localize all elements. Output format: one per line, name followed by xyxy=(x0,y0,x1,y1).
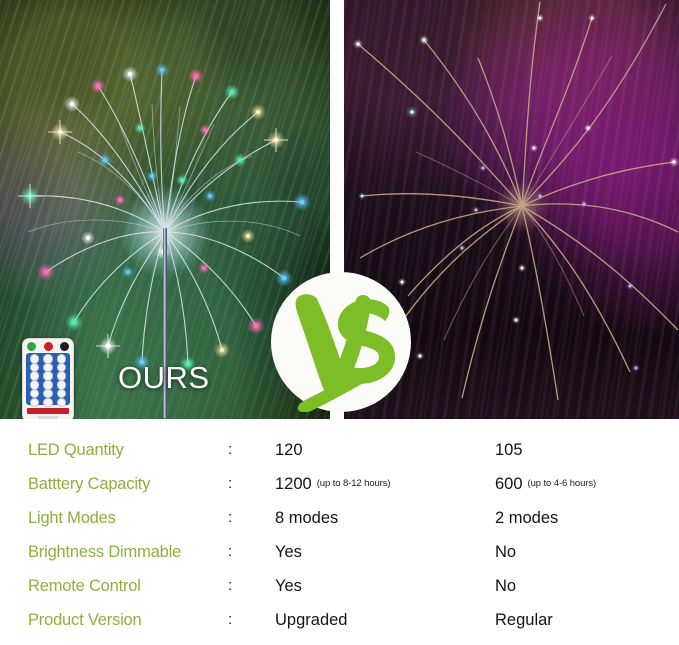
spec-separator: : xyxy=(228,603,232,637)
spec-value-ours: 120 xyxy=(275,433,308,467)
spec-comparison-table: LED Quantity : 120 105 Batttery Capacity… xyxy=(0,419,679,645)
spec-value-others: No xyxy=(495,569,521,603)
spec-value-others-main: 2 modes xyxy=(495,501,558,535)
table-row: Remote Control : Yes No xyxy=(0,569,679,603)
spec-label: Light Modes xyxy=(28,501,116,535)
spec-value-ours: Yes xyxy=(275,569,307,603)
spec-value-others-main: Regular xyxy=(495,603,553,637)
remote-power-off-button[interactable] xyxy=(44,342,53,351)
spec-value-others: 105 xyxy=(495,433,528,467)
remote-keypad xyxy=(26,353,70,405)
spec-label: Remote Control xyxy=(28,569,141,603)
spec-value-ours: 8 modes xyxy=(275,501,343,535)
spec-value-others: 600 (up to 4-6 hours) xyxy=(495,467,596,501)
comparison-page: OURS xyxy=(0,0,679,645)
remote-key[interactable] xyxy=(57,398,66,407)
spec-value-ours: 1200 (up to 8-12 hours) xyxy=(275,467,390,501)
spec-value-ours-main: Yes xyxy=(275,569,302,603)
remote-key[interactable] xyxy=(43,398,52,407)
spec-value-ours-main: 120 xyxy=(275,433,303,467)
spec-value-others-main: No xyxy=(495,535,516,569)
photo-comparison-band: OURS xyxy=(0,0,679,419)
spec-separator: : xyxy=(228,501,232,535)
table-row: LED Quantity : 120 105 xyxy=(0,433,679,467)
remote-key[interactable] xyxy=(30,389,39,398)
remote-key[interactable] xyxy=(43,389,52,398)
table-row: Brightness Dimmable : Yes No xyxy=(0,535,679,569)
spec-value-ours-main: 1200 xyxy=(275,467,312,501)
spec-value-others: 2 modes xyxy=(495,501,563,535)
remote-brand-strip xyxy=(27,408,69,414)
spec-label: Brightness Dimmable xyxy=(28,535,181,569)
spec-separator: : xyxy=(228,433,232,467)
remote-control-inset xyxy=(22,338,74,419)
photo-label-ours: OURS xyxy=(118,360,210,396)
remote-power-on-button[interactable] xyxy=(27,342,36,351)
spec-value-others-main: 600 xyxy=(495,467,523,501)
table-row: Light Modes : 8 modes 2 modes xyxy=(0,501,679,535)
spec-value-ours: Yes xyxy=(275,535,307,569)
spec-separator: : xyxy=(228,569,232,603)
remote-top-buttons xyxy=(27,342,69,351)
remote-key[interactable] xyxy=(30,398,39,407)
spec-label: Batttery Capacity xyxy=(28,467,150,501)
spec-separator: : xyxy=(228,535,232,569)
spec-value-others: No xyxy=(495,535,521,569)
spec-separator: : xyxy=(228,467,232,501)
spec-value-others: Regular xyxy=(495,603,558,637)
spec-value-ours-main: 8 modes xyxy=(275,501,338,535)
spec-value-ours-main: Yes xyxy=(275,535,302,569)
remote-footer-bar xyxy=(38,416,58,419)
spec-label: Product Version xyxy=(28,603,141,637)
vs-letters-icon xyxy=(271,272,411,412)
spec-value-ours: Upgraded xyxy=(275,603,352,637)
table-row: Batttery Capacity : 1200 (up to 8-12 hou… xyxy=(0,467,679,501)
spec-value-ours-main: Upgraded xyxy=(275,603,347,637)
remote-mode-button[interactable] xyxy=(60,342,69,351)
spec-value-others-main: 105 xyxy=(495,433,523,467)
spec-value-others-main: No xyxy=(495,569,516,603)
vs-badge xyxy=(271,272,411,412)
spec-label: LED Quantity xyxy=(28,433,124,467)
table-row: Product Version : Upgraded Regular xyxy=(0,603,679,637)
spec-value-others-note: (up to 4-6 hours) xyxy=(528,467,597,501)
remote-key[interactable] xyxy=(57,389,66,398)
spec-value-ours-note: (up to 8-12 hours) xyxy=(317,467,391,501)
